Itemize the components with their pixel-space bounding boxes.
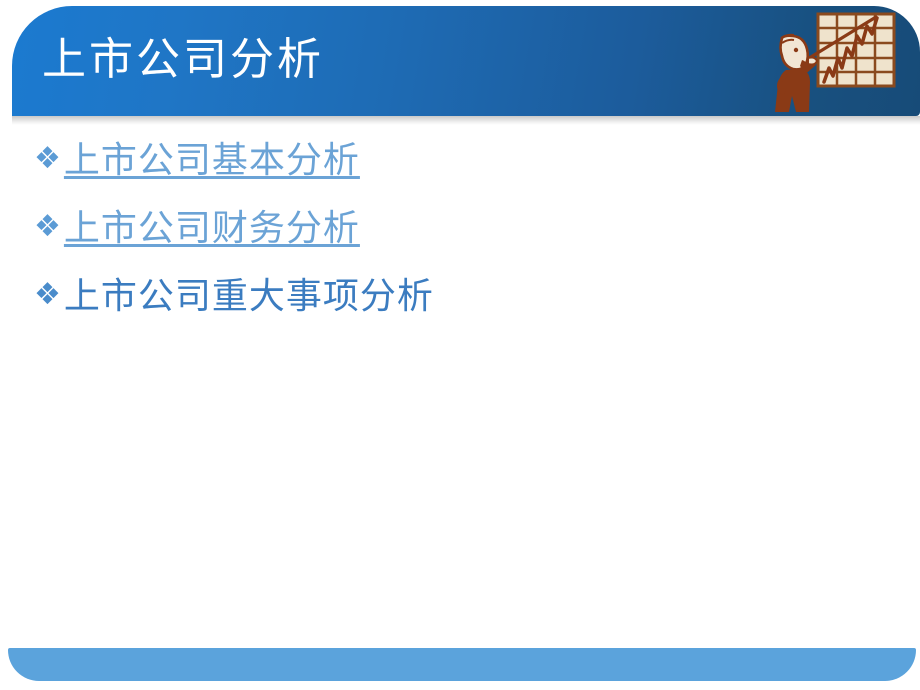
diamond-bullet-icon: ❖ — [34, 272, 61, 318]
bullet-link-financial-analysis[interactable]: 上市公司财务分析 — [64, 204, 360, 252]
bullet-link-basic-analysis[interactable]: 上市公司基本分析 — [64, 136, 360, 184]
slide-header: 上市公司分析 — [12, 6, 920, 116]
list-item: ❖ 上市公司重大事项分析 — [0, 272, 920, 340]
slide-title: 上市公司分析 — [42, 32, 324, 88]
list-item[interactable]: ❖ 上市公司基本分析 — [0, 136, 920, 204]
list-item[interactable]: ❖ 上市公司财务分析 — [0, 204, 920, 272]
slide-footer-bar — [8, 648, 916, 681]
businessman-presenting-chart-icon — [772, 8, 904, 114]
diamond-bullet-icon: ❖ — [34, 204, 61, 250]
diamond-bullet-icon: ❖ — [34, 136, 61, 182]
bullet-text-major-events-analysis: 上市公司重大事项分析 — [64, 272, 434, 320]
slide-content: ❖ 上市公司基本分析 ❖ 上市公司财务分析 ❖ 上市公司重大事项分析 — [0, 136, 920, 340]
header-separator — [12, 116, 920, 125]
presentation-slide: 上市公司分析 — [0, 0, 920, 690]
